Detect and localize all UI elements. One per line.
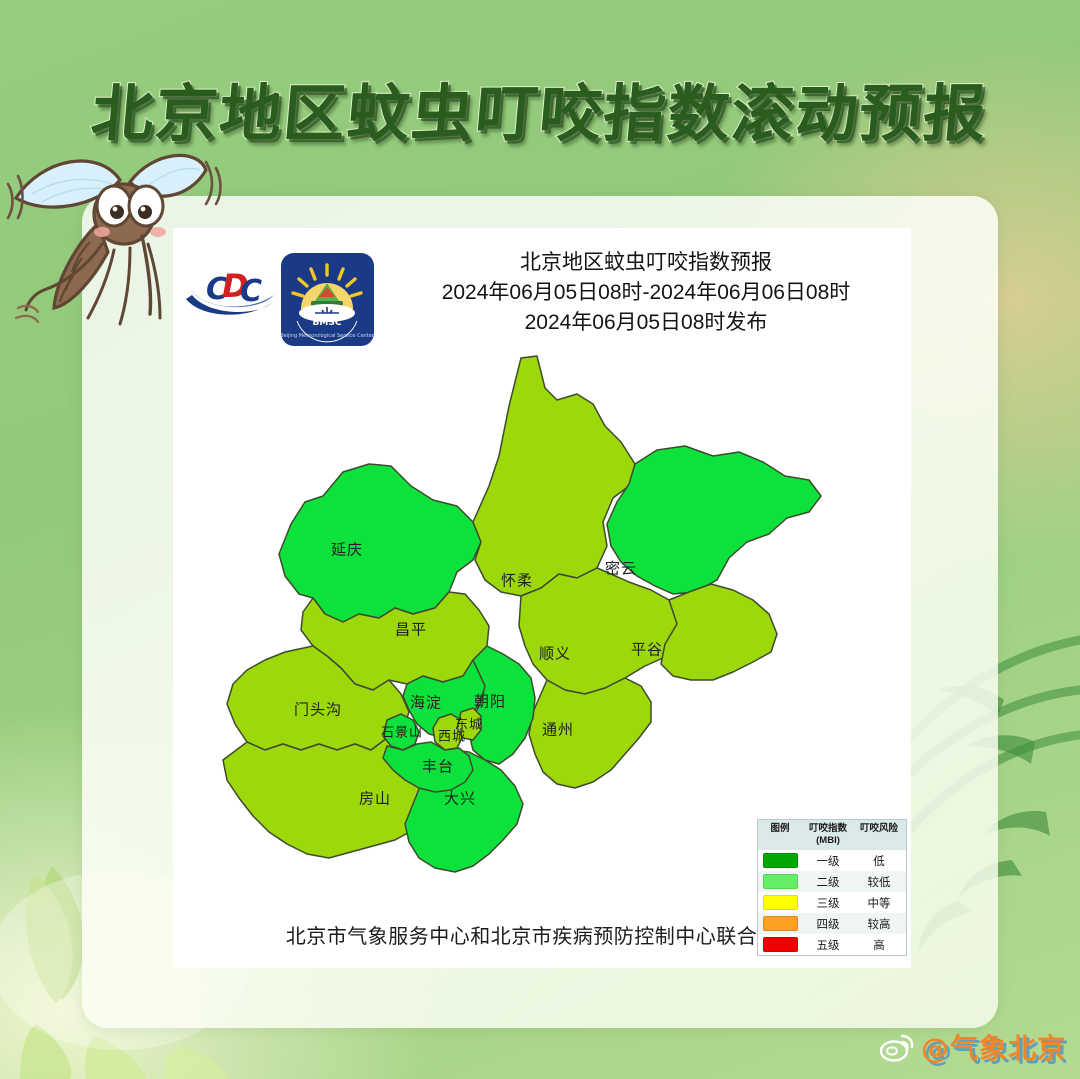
district-label-fengtai: 丰台 xyxy=(422,756,454,777)
legend-risk-4: 较高 xyxy=(854,916,904,932)
district-label-huairou: 怀柔 xyxy=(501,570,533,591)
district-label-tongzhou: 通州 xyxy=(542,719,574,740)
svg-text:C: C xyxy=(240,274,262,309)
legend-swatch-level5 xyxy=(763,937,798,952)
legend-level-2: 二级 xyxy=(802,874,854,890)
legend-risk-2: 较低 xyxy=(854,874,904,890)
district-miyun[interactable] xyxy=(607,446,821,594)
district-shunyi[interactable] xyxy=(519,568,679,694)
svg-text:Beijing Meteorological Service: Beijing Meteorological Service Center xyxy=(281,333,374,339)
header-text-block: 北京地区蚊虫叮咬指数预报 2024年06月05日08时-2024年06月06日0… xyxy=(391,248,901,337)
forecast-card: C D C CDC xyxy=(173,228,911,968)
legend-row: 一级 低 xyxy=(758,850,906,871)
legend-risk-1: 低 xyxy=(854,853,904,869)
legend-level-1: 一级 xyxy=(802,853,854,869)
district-label-changping: 昌平 xyxy=(395,619,427,640)
legend-col-index-line2: (MBI) xyxy=(802,835,854,847)
legend-row: 三级 中等 xyxy=(758,892,906,913)
legend-risk-5: 高 xyxy=(854,937,904,953)
legend: 图例 叮咬指数 (MBI) 叮咬风险 一级 低 二级 较低 三级 中等 xyxy=(757,819,907,956)
bmsc-logo: BMSC Beijing Meteorological Service Cent… xyxy=(281,253,374,346)
district-label-shijingshan: 石景山 xyxy=(381,722,423,741)
district-label-miyun: 密云 xyxy=(605,558,637,579)
legend-row: 二级 较低 xyxy=(758,871,906,892)
mosquito-illustration-icon xyxy=(2,132,232,342)
district-label-pinggu: 平谷 xyxy=(631,639,663,660)
svg-text:BMSC: BMSC xyxy=(313,318,342,328)
header-line-title: 北京地区蚊虫叮咬指数预报 xyxy=(391,248,901,278)
watermark: @气象北京 xyxy=(880,1027,1066,1067)
legend-swatch-level1 xyxy=(763,853,798,868)
district-pinggu[interactable] xyxy=(661,584,777,680)
bmsc-logo-icon: BMSC Beijing Meteorological Service Cent… xyxy=(281,253,374,346)
district-label-mentougou: 门头沟 xyxy=(294,699,342,720)
district-label-shunyi: 顺义 xyxy=(539,643,571,664)
legend-row: 五级 高 xyxy=(758,934,906,955)
weibo-icon xyxy=(880,1032,914,1062)
legend-level-5: 五级 xyxy=(802,937,854,953)
legend-level-3: 三级 xyxy=(802,895,854,911)
legend-col-risk: 叮咬风险 xyxy=(854,823,904,835)
district-label-chaoyang: 朝阳 xyxy=(474,691,506,712)
legend-risk-3: 中等 xyxy=(854,895,904,911)
legend-col-index: 叮咬指数 (MBI) xyxy=(802,823,854,846)
watermark-handle: @气象北京 xyxy=(921,1027,1066,1067)
legend-swatch-level3 xyxy=(763,895,798,910)
district-label-dongcheng: 东城 xyxy=(455,714,483,733)
header-line-period: 2024年06月05日08时-2024年06月06日08时 xyxy=(391,278,901,308)
legend-col-index-line1: 叮咬指数 xyxy=(802,823,854,835)
legend-swatch-level2 xyxy=(763,874,798,889)
district-label-haidian: 海淀 xyxy=(410,692,442,713)
district-label-yanqing: 延庆 xyxy=(331,539,363,560)
district-label-daxing: 大兴 xyxy=(444,788,476,809)
legend-level-4: 四级 xyxy=(802,916,854,932)
legend-header: 图例 叮咬指数 (MBI) 叮咬风险 xyxy=(758,820,906,850)
poster-root: 北京地区蚊虫叮咬指数滚动预报 xyxy=(0,0,1080,1079)
legend-swatch-level4 xyxy=(763,916,798,931)
legend-row: 四级 较高 xyxy=(758,913,906,934)
district-label-fangshan: 房山 xyxy=(359,788,391,809)
card-header: C D C CDC xyxy=(173,228,911,353)
header-line-issued: 2024年06月05日08时发布 xyxy=(391,308,901,338)
legend-col-swatch: 图例 xyxy=(758,823,802,835)
